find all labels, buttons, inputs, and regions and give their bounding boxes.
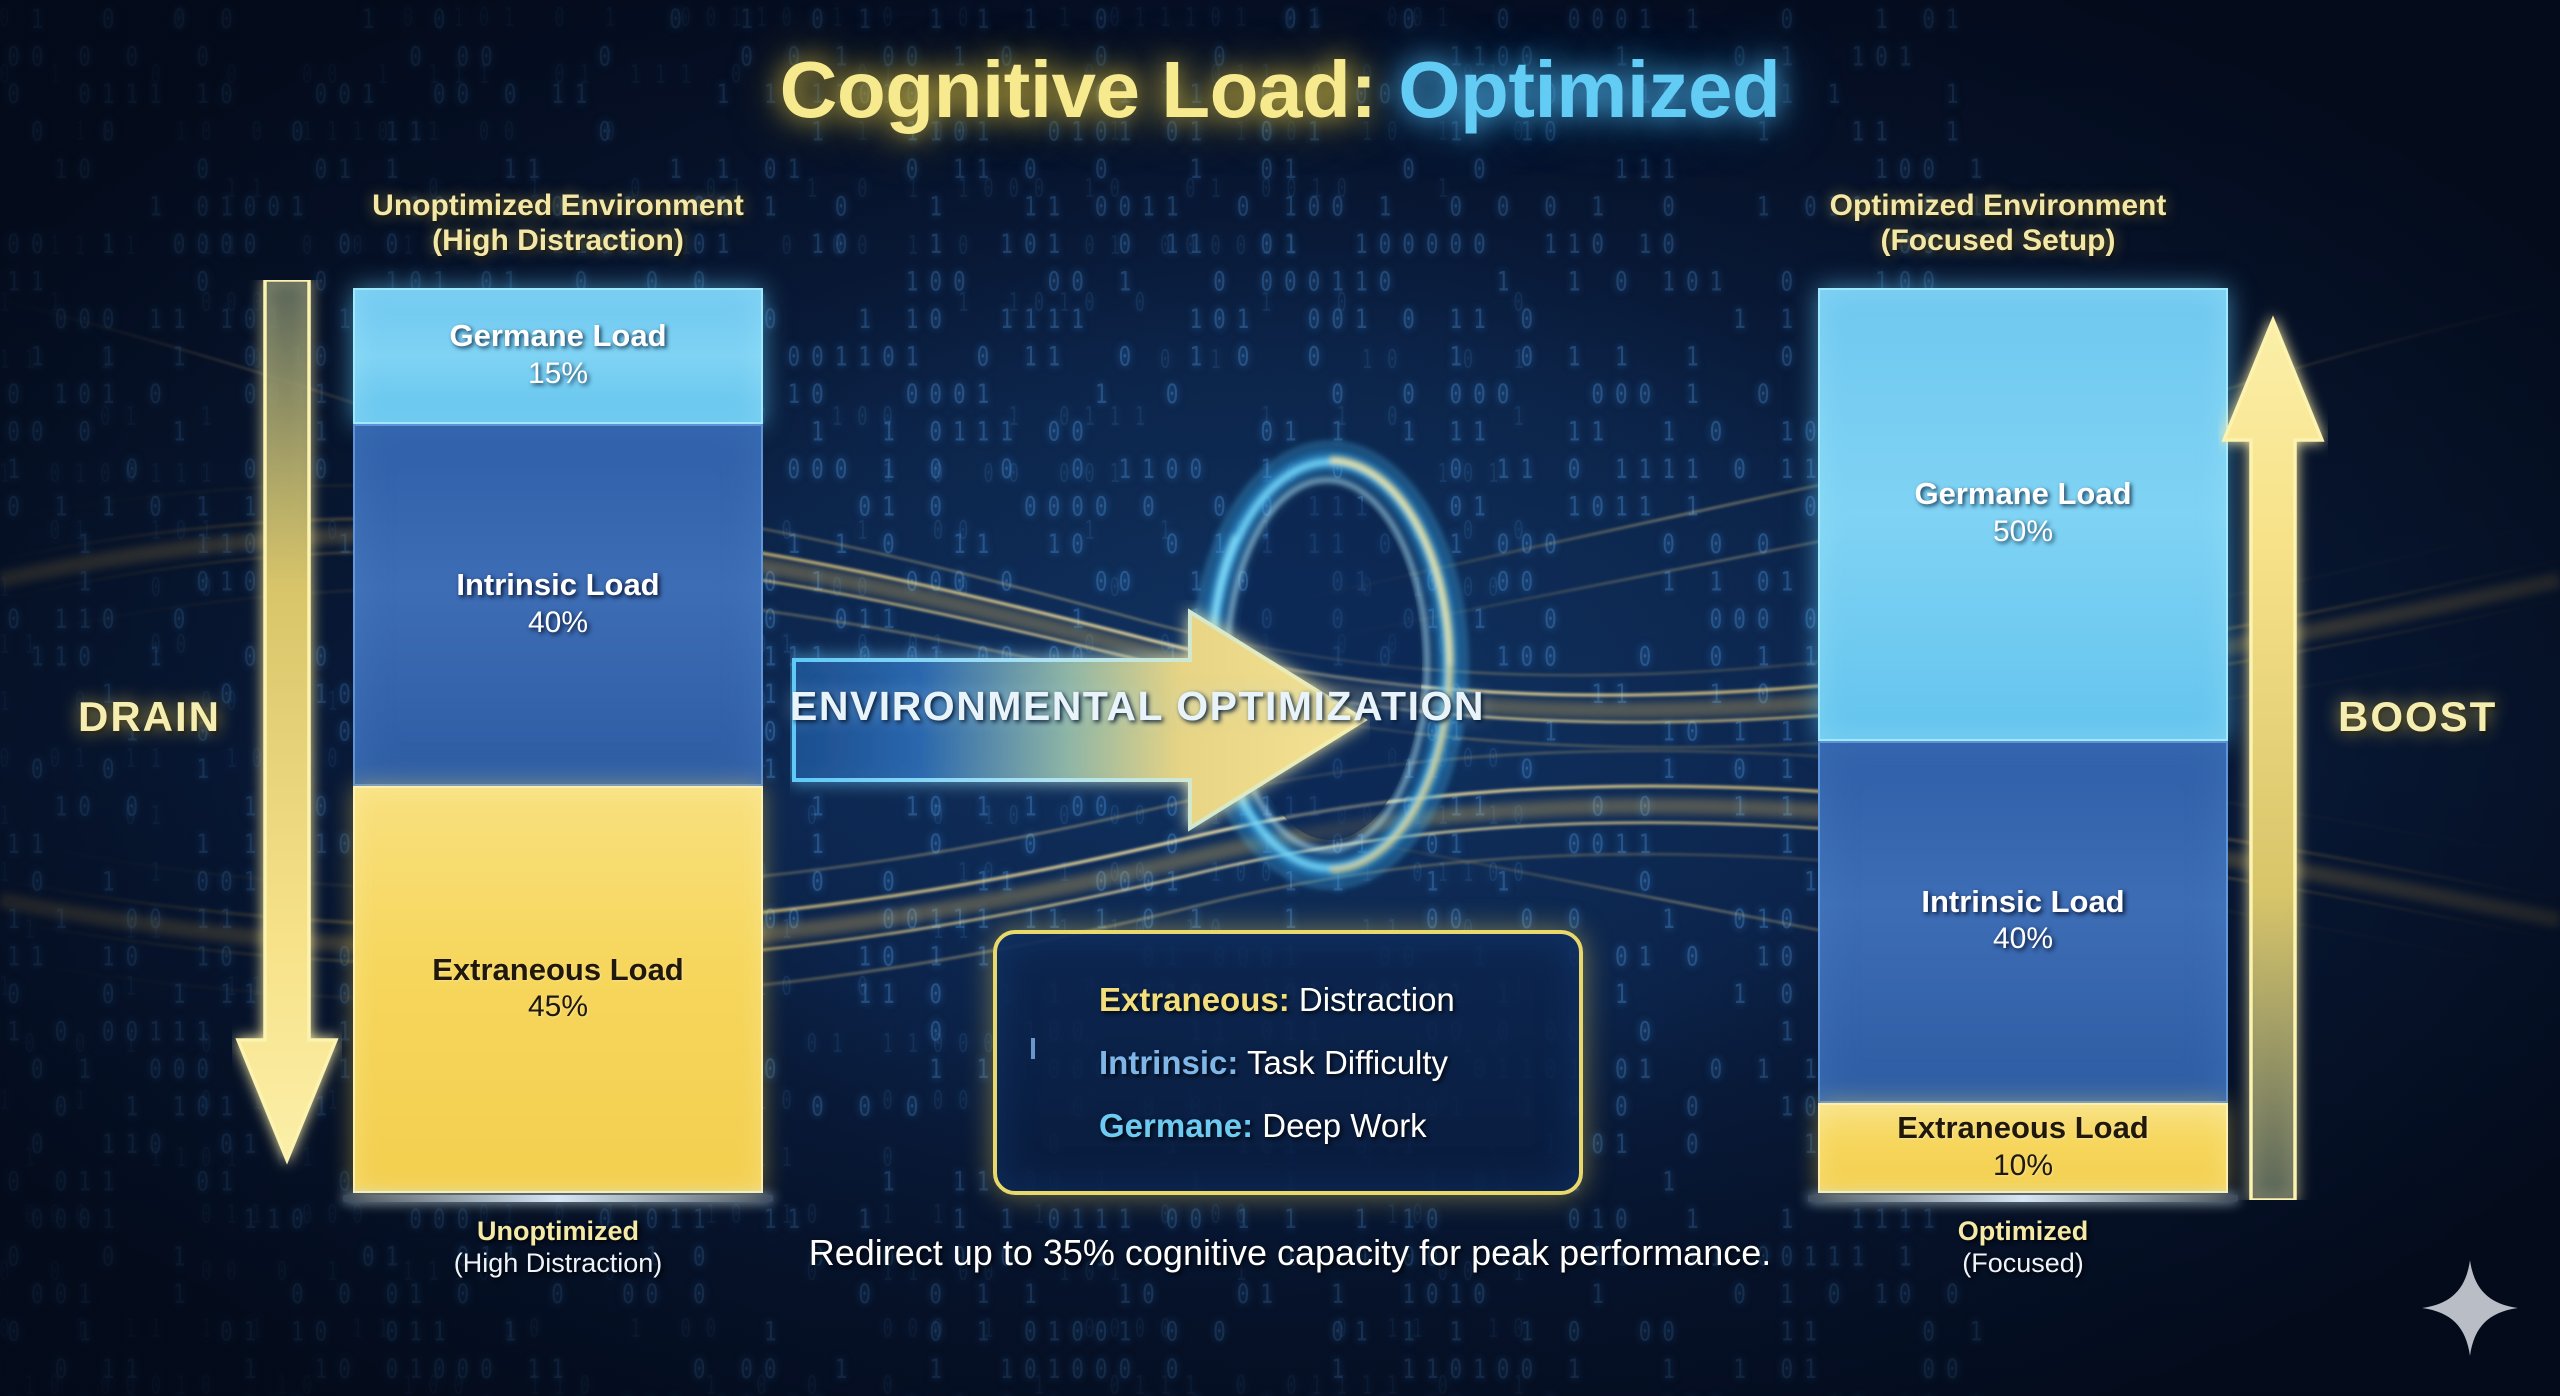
bar-segment-name: Germane Load bbox=[1914, 477, 2131, 512]
bar-segment-germane[interactable]: Germane Load15% bbox=[353, 288, 763, 424]
legend-value-germane: Deep Work bbox=[1262, 1107, 1426, 1144]
legend-key-germane: Germane: bbox=[1099, 1107, 1253, 1144]
bar-segment-intrinsic[interactable]: Intrinsic Load40% bbox=[353, 424, 763, 786]
legend-item-intrinsic[interactable]: Intrinsic: Task Difficulty bbox=[1031, 1040, 1545, 1086]
left-column-heading-line1: Unoptimized Environment bbox=[372, 189, 744, 222]
bar-segment-percent: 10% bbox=[1993, 1146, 2053, 1185]
legend-value-intrinsic: Task Difficulty bbox=[1247, 1044, 1448, 1081]
right-column-heading-line1: Optimized Environment bbox=[1830, 189, 2167, 222]
infographic-canvas: 001 11 111 011 0 0 000 01 0 0 1 0 1 10 1… bbox=[0, 0, 2560, 1396]
four-point-star-icon bbox=[2418, 1256, 2522, 1360]
legend-panel: Extraneous: Distraction Intrinsic: Task … bbox=[993, 930, 1583, 1195]
bar-segment-percent: 15% bbox=[528, 354, 588, 393]
bar-segment-name: Intrinsic Load bbox=[1921, 885, 2124, 920]
bar-segment-percent: 40% bbox=[528, 603, 588, 642]
bar-optimized[interactable]: Germane Load50%Intrinsic Load40%Extraneo… bbox=[1818, 288, 2228, 1193]
baseline-left bbox=[343, 1195, 773, 1202]
legend-item-germane[interactable]: Germane: Deep Work bbox=[1031, 1103, 1545, 1149]
legend-key-extraneous: Extraneous: bbox=[1099, 981, 1290, 1018]
bar-segment-extraneous[interactable]: Extraneous Load45% bbox=[353, 786, 763, 1193]
title-part-accent: Optimized bbox=[1398, 45, 1780, 134]
bar-segment-name: Intrinsic Load bbox=[456, 568, 659, 603]
right-column-heading: Optimized Environment (Focused Setup) bbox=[1678, 188, 2318, 258]
legend-value-extraneous: Distraction bbox=[1299, 981, 1455, 1018]
bar-segment-percent: 45% bbox=[528, 987, 588, 1026]
left-column-heading: Unoptimized Environment (High Distractio… bbox=[238, 188, 878, 258]
circle-marker-icon bbox=[1031, 977, 1077, 1023]
left-column-heading-line2: (High Distraction) bbox=[238, 223, 878, 258]
legend-item-extraneous[interactable]: Extraneous: Distraction bbox=[1031, 977, 1545, 1023]
page-title: Cognitive Load: Optimized bbox=[0, 44, 2560, 136]
center-arrow-label: ENVIRONMENTAL OPTIMIZATION bbox=[790, 683, 1350, 730]
bar-unoptimized[interactable]: Germane Load15%Intrinsic Load40%Extraneo… bbox=[353, 288, 763, 1193]
bar-segment-percent: 40% bbox=[1993, 919, 2053, 958]
drain-label: DRAIN bbox=[78, 693, 221, 741]
bar-segment-percent: 50% bbox=[1993, 512, 2053, 551]
caption-text: Redirect up to 35% cognitive capacity fo… bbox=[640, 1232, 1940, 1274]
arrow-down-icon bbox=[232, 280, 342, 1200]
diamond-marker-icon bbox=[1031, 1103, 1077, 1149]
legend-key-intrinsic: Intrinsic: bbox=[1099, 1044, 1238, 1081]
right-column-heading-line2: (Focused Setup) bbox=[1678, 223, 2318, 258]
bar-segment-name: Extraneous Load bbox=[432, 953, 684, 988]
bar-segment-extraneous[interactable]: Extraneous Load10% bbox=[1818, 1103, 2228, 1194]
arrow-up-icon bbox=[2218, 280, 2328, 1200]
title-part-primary: Cognitive Load: bbox=[780, 45, 1377, 134]
square-marker-icon bbox=[1031, 1040, 1077, 1086]
baseline-right bbox=[1808, 1195, 2238, 1202]
bar-segment-germane[interactable]: Germane Load50% bbox=[1818, 288, 2228, 741]
boost-label: BOOST bbox=[2338, 693, 2497, 741]
bar-segment-name: Extraneous Load bbox=[1897, 1111, 2149, 1146]
bar-segment-name: Germane Load bbox=[449, 319, 666, 354]
bar-segment-intrinsic[interactable]: Intrinsic Load40% bbox=[1818, 741, 2228, 1103]
